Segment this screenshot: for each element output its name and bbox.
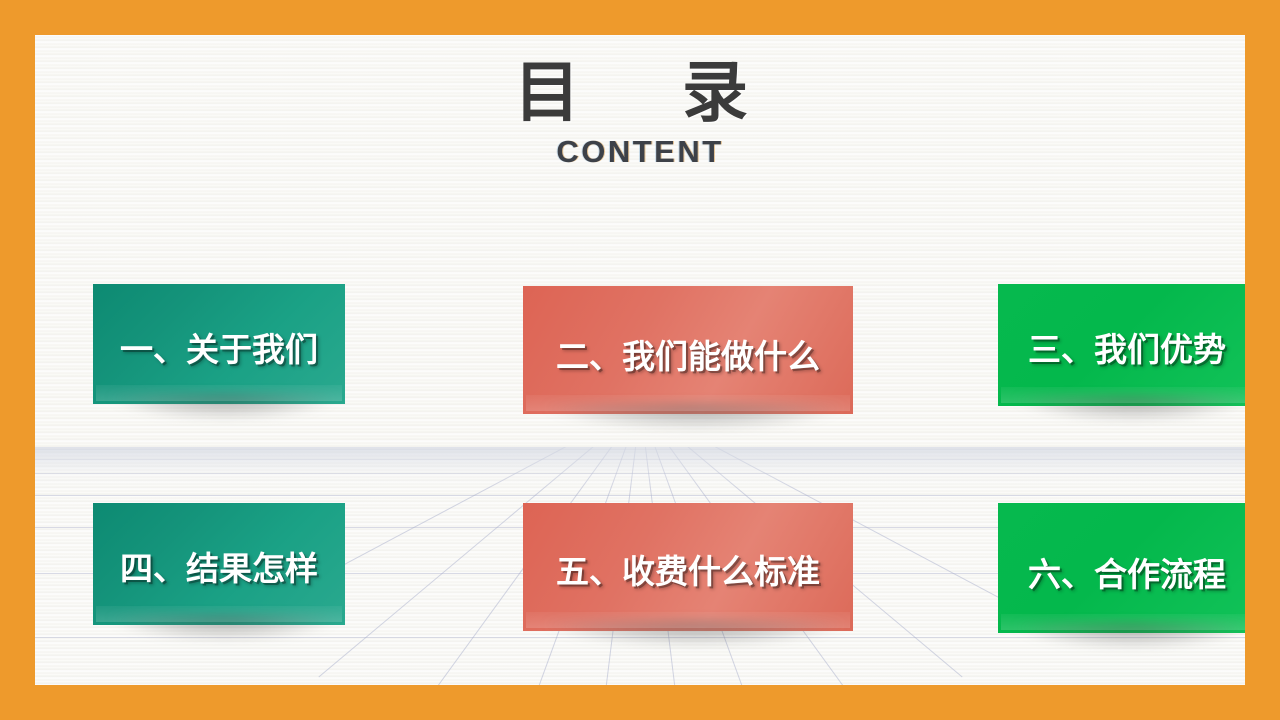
- section-card-label: 三、我们优势: [1028, 323, 1226, 371]
- section-card-6[interactable]: 六、合作流程: [998, 503, 1245, 633]
- section-card-2[interactable]: 二、我们能做什么: [523, 286, 853, 414]
- section-card-label: 四、结果怎样: [120, 542, 318, 590]
- title-block: 目 录 CONTENT: [35, 59, 1245, 170]
- page-title: 目 录: [35, 59, 1245, 126]
- horizon-shading: [35, 447, 1245, 491]
- floor-line-horizontal: [35, 495, 1245, 496]
- section-card-5[interactable]: 五、收费什么标准: [523, 503, 853, 631]
- section-card-4[interactable]: 四、结果怎样: [93, 503, 345, 625]
- section-card-3[interactable]: 三、我们优势: [998, 284, 1245, 406]
- section-card-1[interactable]: 一、关于我们: [93, 284, 345, 404]
- section-card-label: 五、收费什么标准: [556, 545, 820, 593]
- page-subtitle: CONTENT: [35, 134, 1245, 170]
- slide-canvas: 目 录 CONTENT 一、关于我们 二、我们能做什么 三、我们优势 四、结果怎…: [35, 35, 1245, 685]
- slide: 目 录 CONTENT 一、关于我们 二、我们能做什么 三、我们优势 四、结果怎…: [0, 0, 1280, 720]
- section-card-label: 六、合作流程: [1028, 548, 1226, 596]
- section-card-label: 一、关于我们: [120, 323, 318, 371]
- section-card-label: 二、我们能做什么: [556, 330, 820, 378]
